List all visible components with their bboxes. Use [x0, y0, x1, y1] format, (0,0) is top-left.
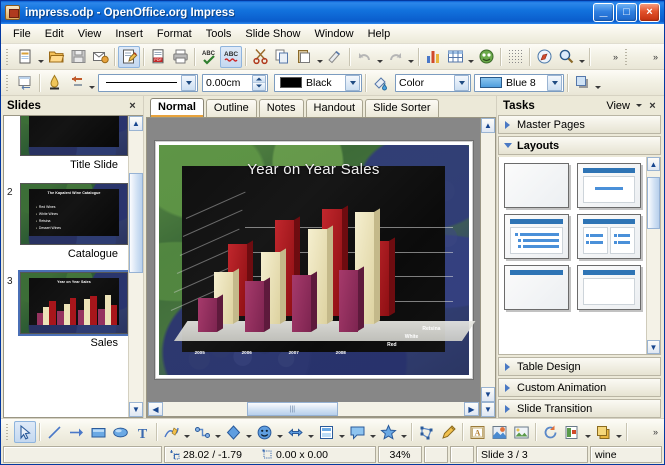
block-arrows-button[interactable] [284, 421, 306, 443]
slide-thumbnail-1[interactable]: Presentation Kapaleni Vineyards [20, 116, 128, 156]
axis-label-2008: 2008 [336, 350, 346, 355]
bar-2008-red [339, 270, 358, 331]
block-arrows-dropdown-icon[interactable] [306, 421, 315, 443]
flowchart-shapes-button[interactable] [315, 421, 337, 443]
scroll-track[interactable] [481, 133, 495, 387]
line-color-button[interactable] [43, 72, 65, 94]
slides-panel-title: Slides [7, 100, 126, 112]
redo-dropdown-icon[interactable] [406, 46, 415, 68]
object-size-icon [262, 449, 273, 460]
thumb-bullets: Red Wines White Wines Retsina Dessert Wi… [36, 204, 61, 231]
tab-normal[interactable]: Normal [150, 98, 204, 117]
drawing-toolbar-grip[interactable] [4, 423, 11, 441]
scroll-track[interactable] [647, 171, 660, 340]
tasks-panel-close-icon[interactable]: × [646, 99, 659, 112]
scroll-right-icon[interactable]: ▶ [464, 402, 479, 416]
minimize-button[interactable]: _ [593, 3, 614, 22]
line-color-value: Black [306, 77, 345, 89]
from-file-button[interactable] [488, 421, 510, 443]
tab-notes[interactable]: Notes [259, 99, 304, 117]
layout-title-bullets[interactable] [504, 214, 569, 259]
paste-button[interactable] [293, 46, 315, 68]
paste-dropdown-icon[interactable] [315, 46, 324, 68]
scroll-thumb[interactable] [647, 177, 660, 229]
close-button[interactable]: × [639, 3, 660, 22]
linefill-toolbar-grip[interactable] [4, 74, 11, 92]
svg-text:PDF: PDF [154, 58, 162, 62]
new-document-dropdown-icon[interactable] [36, 46, 45, 68]
axis-label-2007: 2007 [289, 350, 299, 355]
editor-area: Normal Outline Notes Handout Slide Sorte… [144, 96, 496, 418]
redo-button[interactable] [384, 46, 406, 68]
slides-panel: Slides × 1 Presentation Kapaleni Vineyar… [1, 96, 144, 418]
arrow-tool-button[interactable] [65, 421, 87, 443]
object-size-value: 0.00 x 0.00 [276, 449, 328, 461]
tasks-sections: Master Pages Layouts [497, 115, 662, 418]
section-label: Custom Animation [517, 382, 606, 394]
tasks-panel-title: Tasks [503, 100, 606, 112]
scroll-up-icon[interactable]: ▲ [481, 118, 495, 133]
edit-file-button[interactable] [118, 46, 140, 68]
layout-title-only[interactable] [504, 265, 569, 310]
layout-title-content[interactable] [577, 163, 642, 208]
image-gallery-button[interactable] [510, 421, 532, 443]
rectangle-tool-button[interactable] [87, 421, 109, 443]
drawing-toolbar-overflow[interactable]: » [649, 427, 662, 437]
toolbar-separator [535, 423, 536, 441]
impress-window: impress.odp - OpenOffice.org Impress _ □… [0, 0, 665, 465]
expand-triangle-icon [504, 363, 512, 371]
print-file-button[interactable] [169, 46, 191, 68]
cursor-position-value: 28.02 / -1.79 [183, 449, 242, 461]
status-zoom[interactable]: 34% [378, 446, 422, 463]
canvas-vertical-scrollbar[interactable]: ▲ ▼ ▼ [481, 117, 496, 418]
gallery-button[interactable] [475, 46, 497, 68]
menu-edit[interactable]: Edit [38, 26, 71, 42]
helplines-button[interactable] [533, 46, 555, 68]
curve-dropdown-icon[interactable] [182, 421, 191, 443]
slides-vertical-scrollbar[interactable]: ▲ ▼ [128, 116, 143, 417]
tab-slide-sorter[interactable]: Slide Sorter [365, 99, 438, 117]
expand-triangle-icon [504, 121, 512, 129]
thumb-title: Year on Year Sales [21, 280, 127, 285]
section-layouts[interactable]: Layouts [498, 136, 661, 155]
status-position-size: 28.02 / -1.79 0.00 x 0.00 [164, 446, 376, 463]
layouts-area: ▲ ▼ [498, 157, 661, 355]
zoom-button[interactable] [555, 46, 577, 68]
standard-toolbar: PDF ABC ABC [1, 44, 664, 70]
bar-2007-red [292, 275, 311, 332]
thumb-inner-panel [29, 116, 118, 147]
status-modified [424, 446, 448, 463]
scroll-track[interactable]: ||| [163, 402, 464, 416]
slide-label: Sales [20, 334, 122, 355]
slides-panel-close-icon[interactable]: × [126, 99, 139, 112]
send-email-button[interactable] [89, 46, 111, 68]
toolbar-separator [529, 48, 530, 66]
expand-triangle-icon [504, 384, 512, 392]
area-style-combo[interactable]: Color [395, 74, 471, 92]
toolbar-separator [143, 48, 144, 66]
ellipse-tool-button[interactable] [109, 421, 131, 443]
arrow-style-dropdown-icon[interactable] [87, 72, 96, 94]
layout-title-two-content[interactable] [577, 214, 642, 259]
arrow-style-button[interactable] [65, 72, 87, 94]
list-item[interactable]: 3 Year on Year Sales [4, 268, 128, 357]
rotate-tool-button[interactable] [539, 421, 561, 443]
canvas-horizontal-scrollbar[interactable]: ◀ ||| ▶ [147, 402, 480, 417]
axis-label-2006: 2006 [242, 350, 252, 355]
fontwork-button[interactable]: A [466, 421, 488, 443]
axis-label-2005: 2005 [195, 350, 205, 355]
toolbar-separator [500, 48, 501, 66]
toolbar-separator [418, 48, 419, 66]
thumb-title: The Kapaleni Wine Catalogue [21, 191, 127, 196]
slide-label: Catalogue [20, 245, 122, 266]
main-body: Slides × 1 Presentation Kapaleni Vineyar… [1, 96, 664, 418]
scroll-thumb[interactable] [129, 173, 143, 273]
svg-text:A: A [474, 428, 480, 437]
section-label: Table Design [517, 361, 581, 373]
zoom-dropdown-icon[interactable] [577, 46, 586, 68]
line-color-swatch [280, 77, 302, 88]
line-style-preview [102, 75, 181, 91]
slides-scroll-area: 1 Presentation Kapaleni Vineyards Title … [3, 115, 143, 418]
tasks-panel-header: Tasks View × [497, 96, 662, 115]
scroll-down-icon[interactable]: ▼ [481, 387, 495, 402]
sales-chart[interactable]: 2005 2006 2007 2008 Red White Retsina [168, 206, 462, 359]
bar-2005-red [198, 298, 217, 332]
export-pdf-button[interactable]: PDF [147, 46, 169, 68]
shadow-dropdown-icon[interactable] [593, 72, 602, 94]
callout-shapes-button[interactable] [346, 421, 368, 443]
toolbar-separator [589, 48, 590, 66]
current-slide[interactable]: Year on Year Sales [155, 141, 473, 379]
glue-points-button[interactable] [437, 421, 459, 443]
drawing-toolbar: T [1, 418, 664, 445]
shadow-button[interactable] [571, 72, 593, 94]
toolbar-separator [567, 74, 568, 92]
points-tool-button[interactable] [415, 421, 437, 443]
copy-button[interactable] [271, 46, 293, 68]
star-shapes-dropdown-icon[interactable] [399, 421, 408, 443]
scroll-thumb[interactable]: ||| [247, 402, 337, 416]
toolbar-grip[interactable] [4, 48, 11, 66]
line-width-value: 0.00cm [206, 77, 252, 89]
layout-title-object[interactable] [577, 265, 642, 310]
align-dropdown-icon[interactable] [583, 421, 592, 443]
status-master-name: wine [590, 446, 662, 463]
slide-thumbnail-3[interactable]: Year on Year Sales [20, 272, 128, 334]
toolbar-separator [156, 423, 157, 441]
menu-tools[interactable]: Tools [199, 26, 239, 42]
title-bar: impress.odp - OpenOffice.org Impress _ □… [1, 1, 664, 24]
menu-view[interactable]: View [71, 26, 109, 42]
toolbar-separator [39, 74, 40, 92]
cut-button[interactable] [249, 46, 271, 68]
scroll-down-icon[interactable]: ▼ [647, 340, 660, 354]
layouts-grid [499, 157, 646, 354]
line-and-filling-toolbar: 0.00cm Black Color Blue 8 [1, 70, 664, 96]
slide-thumbnail-2[interactable]: The Kapaleni Wine Catalogue Red Wines Wh… [20, 183, 128, 245]
line-color-chevron-down-icon[interactable] [345, 75, 360, 91]
slide-label: Title Slide [20, 156, 122, 177]
canvas-wrapper: Year on Year Sales [146, 117, 496, 418]
area-fill-chevron-down-icon[interactable] [547, 75, 562, 91]
series-label-white: White [405, 334, 419, 340]
section-label: Slide Transition [517, 403, 592, 415]
status-signature [450, 446, 474, 463]
svg-text:ABC: ABC [224, 51, 238, 58]
section-master-pages[interactable]: Master Pages [498, 115, 661, 134]
area-style-value: Color [399, 77, 454, 89]
thumb-chart [32, 295, 121, 325]
align-objects-button[interactable] [561, 421, 583, 443]
toolbar-separator [245, 48, 246, 66]
area-fill-combo[interactable]: Blue 8 [474, 74, 564, 92]
area-style-button[interactable] [369, 72, 391, 94]
bar-2006-red [245, 281, 264, 332]
line-style-combo[interactable] [98, 74, 198, 92]
impress-document-icon [5, 5, 20, 20]
series-label-retsina: Retsina [422, 326, 440, 332]
insert-chart-button[interactable] [422, 46, 444, 68]
maximize-button[interactable]: □ [616, 3, 637, 22]
scroll-down-icon[interactable]: ▼ [129, 402, 143, 417]
section-custom-animation[interactable]: Custom Animation [498, 378, 661, 397]
menu-file[interactable]: File [6, 26, 38, 42]
standard-toolbar-overflow-2[interactable]: » [649, 52, 662, 62]
toolbar-separator [39, 423, 40, 441]
svg-text:T: T [137, 427, 147, 441]
tasks-panel: Tasks View × Master Pages Layouts [496, 96, 664, 418]
toolbar-separator [411, 423, 412, 441]
layout-blank-slide[interactable] [504, 163, 569, 208]
expand-triangle-icon [504, 405, 512, 413]
text-tool-button[interactable]: T [131, 421, 153, 443]
canvas-outer: Year on Year Sales [146, 117, 481, 418]
scroll-left-icon[interactable]: ◀ [148, 402, 163, 416]
slide-title-text[interactable]: Year on Year Sales [156, 161, 472, 178]
minimize-icon: _ [594, 4, 613, 21]
menu-help[interactable]: Help [361, 26, 398, 42]
line-width-stepper[interactable] [252, 75, 266, 91]
toolbar-grip-2[interactable] [623, 48, 630, 66]
toolbar-separator [114, 48, 115, 66]
menu-slide-show[interactable]: Slide Show [238, 26, 307, 42]
line-color-combo[interactable]: Black [274, 74, 362, 92]
slide-properties-button[interactable] [14, 72, 36, 94]
curve-tool-button[interactable] [160, 421, 182, 443]
scroll-up-icon[interactable]: ▲ [647, 157, 660, 171]
connector-dropdown-icon[interactable] [213, 421, 222, 443]
connector-tool-button[interactable] [191, 421, 213, 443]
slide-canvas[interactable]: Year on Year Sales [147, 118, 480, 402]
callout-dropdown-icon[interactable] [368, 421, 377, 443]
section-label: Layouts [517, 140, 559, 152]
arrange-objects-button[interactable] [592, 421, 614, 443]
scroll-track[interactable] [129, 131, 143, 402]
section-table-design[interactable]: Table Design [498, 357, 661, 376]
clone-formatting-button[interactable] [324, 46, 346, 68]
flowchart-dropdown-icon[interactable] [337, 421, 346, 443]
spelling-button[interactable]: ABC [198, 46, 220, 68]
symbol-shapes-button[interactable] [253, 421, 275, 443]
star-shapes-button[interactable] [377, 421, 399, 443]
area-style-chevron-down-icon[interactable] [454, 75, 469, 91]
maximize-icon: □ [617, 4, 636, 21]
insert-table-button[interactable] [444, 46, 466, 68]
cursor-position-icon [169, 449, 180, 460]
basic-shapes-button[interactable] [222, 421, 244, 443]
line-tool-button[interactable] [43, 421, 65, 443]
layouts-vertical-scrollbar[interactable]: ▲ ▼ [646, 157, 660, 354]
menu-window[interactable]: Window [307, 26, 360, 42]
symbol-shapes-dropdown-icon[interactable] [275, 421, 284, 443]
insert-table-dropdown-icon[interactable] [466, 46, 475, 68]
autospellcheck-button[interactable]: ABC [220, 46, 242, 68]
standard-toolbar-overflow[interactable]: » [609, 52, 622, 62]
collapse-triangle-icon [504, 142, 512, 150]
arrange-dropdown-icon[interactable] [614, 421, 623, 443]
new-document-button[interactable] [14, 46, 36, 68]
open-document-button[interactable] [45, 46, 67, 68]
section-slide-transition[interactable]: Slide Transition [498, 399, 661, 418]
toolbar-separator [626, 423, 627, 441]
menu-insert[interactable]: Insert [108, 26, 150, 42]
toolbar-separator [462, 423, 463, 441]
menu-format[interactable]: Format [150, 26, 199, 42]
area-fill-value: Blue 8 [506, 77, 547, 89]
display-grid-button[interactable] [504, 46, 526, 68]
window-controls: _ □ × [593, 3, 662, 22]
list-item[interactable]: 1 Presentation Kapaleni Vineyards Title … [4, 116, 128, 179]
select-tool-button[interactable] [14, 421, 36, 443]
slides-panel-header: Slides × [1, 96, 143, 115]
status-slide-info: Slide 3 / 3 [476, 446, 588, 463]
slides-list[interactable]: 1 Presentation Kapaleni Vineyards Title … [4, 116, 128, 417]
undo-dropdown-icon[interactable] [375, 46, 384, 68]
series-label-red: Red [387, 342, 396, 348]
view-tabs: Normal Outline Notes Handout Slide Sorte… [146, 96, 496, 117]
status-message [3, 446, 162, 463]
undo-button[interactable] [353, 46, 375, 68]
line-style-chevron-down-icon[interactable] [181, 75, 196, 91]
toolbar-separator [349, 48, 350, 66]
toolbar-separator [194, 48, 195, 66]
area-fill-swatch [480, 77, 502, 88]
tasks-view-chevron-down-icon[interactable] [633, 99, 644, 112]
menu-bar: File Edit View Insert Format Tools Slide… [1, 24, 664, 44]
section-label: Master Pages [517, 119, 585, 131]
status-bar: 28.02 / -1.79 0.00 x 0.00 34% Slide 3 / … [1, 445, 664, 464]
basic-shapes-dropdown-icon[interactable] [244, 421, 253, 443]
scroll-up-icon[interactable]: ▲ [129, 116, 143, 131]
scroll-page-icon[interactable]: ▼ [481, 402, 495, 417]
toolbar-separator [365, 74, 366, 92]
close-icon: × [640, 4, 659, 21]
tasks-view-button[interactable]: View [606, 100, 630, 112]
tab-handout[interactable]: Handout [306, 99, 364, 117]
window-title: impress.odp - OpenOffice.org Impress [25, 7, 235, 19]
save-document-button[interactable] [67, 46, 89, 68]
tab-outline[interactable]: Outline [206, 99, 257, 117]
line-width-spinner[interactable]: 0.00cm [202, 74, 268, 92]
slide-number: 2 [7, 187, 13, 198]
list-item[interactable]: 2 The Kapaleni Wine Catalogue Red Wines … [4, 179, 128, 268]
slide-number: 3 [7, 276, 13, 287]
